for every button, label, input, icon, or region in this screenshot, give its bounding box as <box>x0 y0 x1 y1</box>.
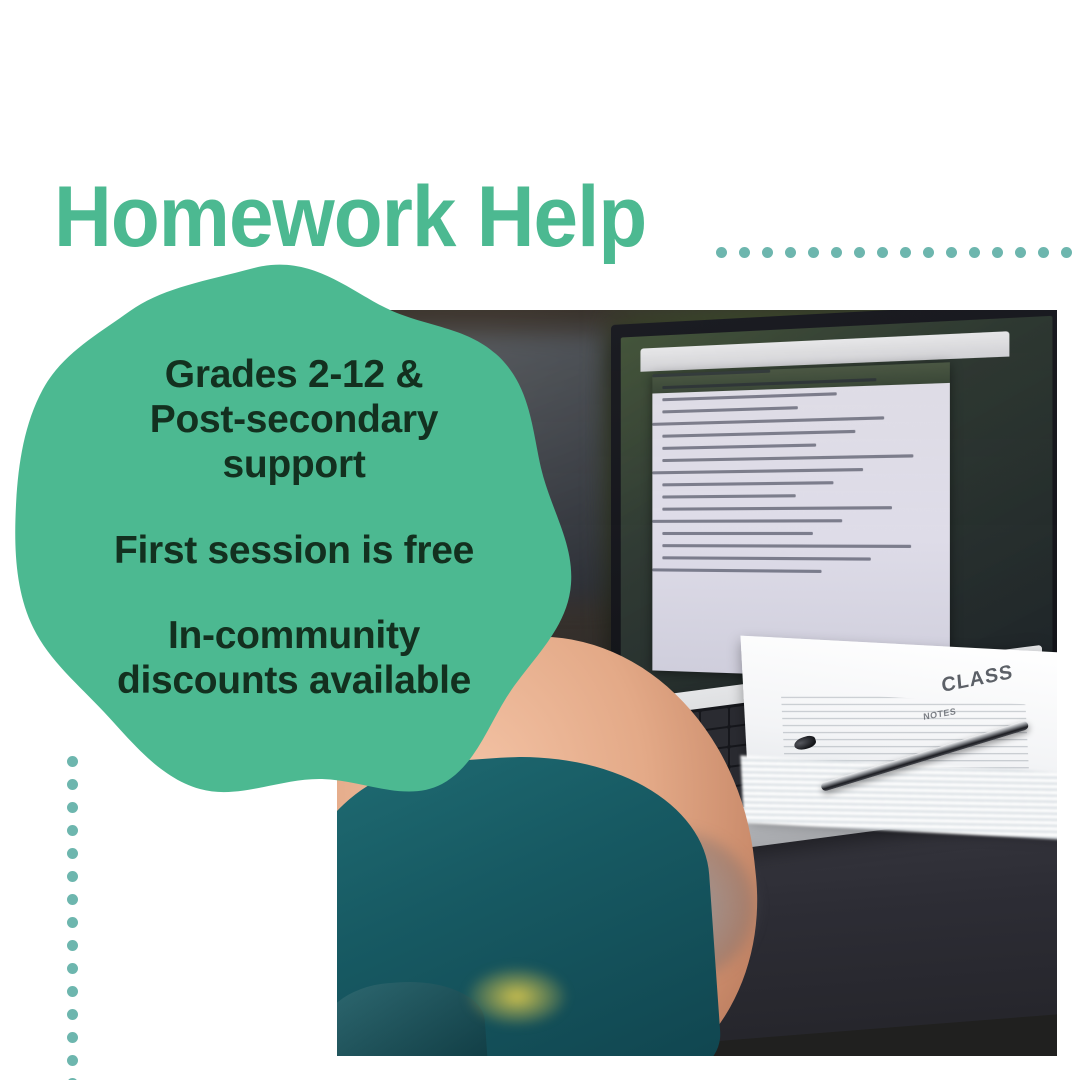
decorative-dot <box>67 756 78 767</box>
decorative-dot <box>946 247 957 258</box>
keyboard-key <box>701 708 728 730</box>
decorative-dot <box>67 1055 78 1066</box>
document-text-line <box>662 482 834 487</box>
document-text-line <box>662 393 837 402</box>
decorative-dot <box>854 247 865 258</box>
decorative-dot <box>67 1032 78 1043</box>
decorative-dot <box>67 986 78 997</box>
decorative-dot <box>831 247 842 258</box>
dotted-divider-top <box>716 247 1080 258</box>
decorative-dot <box>1015 247 1026 258</box>
decorative-dot <box>923 247 934 258</box>
document-text-line <box>662 430 855 438</box>
document-text-line <box>662 557 871 561</box>
callout-line: In-community <box>36 613 552 658</box>
document-text-line <box>662 507 892 512</box>
decorative-dot <box>67 894 78 905</box>
decorative-dot <box>992 247 1003 258</box>
document-text-line <box>662 545 911 549</box>
decorative-dot <box>877 247 888 258</box>
document-text-line <box>662 455 913 463</box>
decorative-dot <box>716 247 727 258</box>
document-text-lines <box>652 364 905 628</box>
poster-canvas: CLASS NOTES Homework Help Grades 2-12 & … <box>0 0 1080 1080</box>
document-text-line <box>652 468 862 474</box>
document-text-line <box>652 569 821 574</box>
decorative-dot <box>739 247 750 258</box>
decorative-dot <box>67 940 78 951</box>
document-text-line <box>652 520 841 524</box>
decorative-dot <box>969 247 980 258</box>
document-text-line <box>652 417 883 427</box>
callout-paragraph-grades: Grades 2-12 & Post-secondary support <box>36 352 552 488</box>
decorative-dot <box>67 848 78 859</box>
callout-line: First session is free <box>36 528 552 573</box>
callout-paragraph-first-session: First session is free <box>36 528 552 573</box>
document-window <box>652 363 949 681</box>
background-yellow-blur <box>467 967 568 1027</box>
shirt-fold <box>337 976 489 1056</box>
callout-paragraph-discounts: In-community discounts available <box>36 613 552 703</box>
callout-line: Post-secondary <box>36 397 552 442</box>
decorative-dot <box>67 779 78 790</box>
decorative-dot <box>67 1009 78 1020</box>
decorative-dot <box>67 825 78 836</box>
callout-line: support <box>36 442 552 487</box>
decorative-dot <box>1038 247 1049 258</box>
decorative-dot <box>1061 247 1072 258</box>
decorative-dot <box>762 247 773 258</box>
decorative-dot <box>67 917 78 928</box>
dotted-divider-left <box>67 756 78 1080</box>
document-text-line <box>662 532 813 535</box>
callout-text-block: Grades 2-12 & Post-secondary support Fir… <box>36 352 552 703</box>
page-title: Homework Help <box>54 174 646 260</box>
browser-chrome-bar <box>640 331 1009 372</box>
document-text-line <box>662 407 798 414</box>
decorative-dot <box>67 802 78 813</box>
document-text-line <box>662 495 795 499</box>
decorative-dot <box>67 871 78 882</box>
callout-line: Grades 2-12 & <box>36 352 552 397</box>
decorative-dot <box>785 247 796 258</box>
callout-line: discounts available <box>36 658 552 703</box>
decorative-dot <box>900 247 911 258</box>
decorative-dot <box>808 247 819 258</box>
decorative-dot <box>67 963 78 974</box>
document-text-line <box>662 444 816 450</box>
